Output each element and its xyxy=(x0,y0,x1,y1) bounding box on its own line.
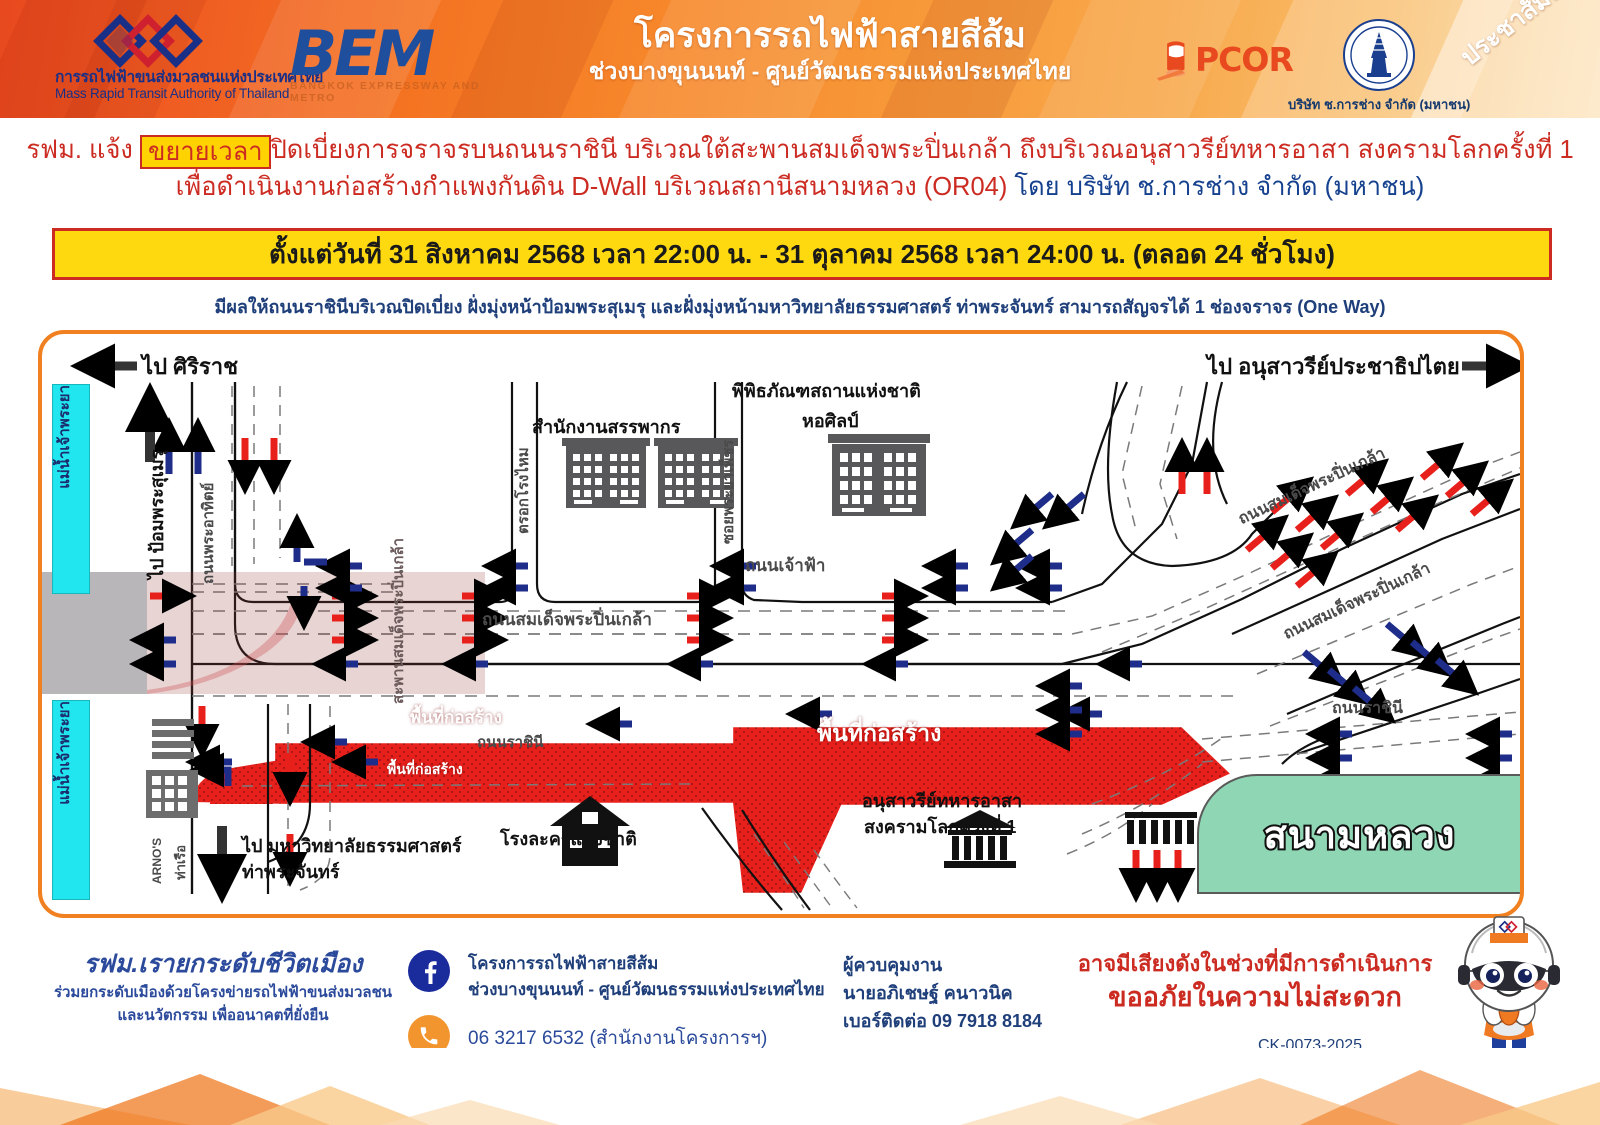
slogan-sub-2: และนวัตกรรม เพื่ออนาคตที่ยั่งยืน xyxy=(48,1004,398,1027)
revenue-office-building-icon-2 xyxy=(654,438,738,508)
mrta-english-name: Mass Rapid Transit Authority of Thailand xyxy=(55,86,245,102)
mrta-diamond-icon xyxy=(90,14,210,68)
apology-line-2: ขออภัยในความไม่สะดวก xyxy=(1055,979,1455,1015)
traffic-diversion-map: แม่น้ำเจ้าพระยา แม่น้ำเจ้าพระยา สนามหลวง… xyxy=(38,330,1524,918)
supervisor-phone: เบอร์ติดต่อ 09 7918 8184 xyxy=(843,1007,1042,1035)
slogan-sub-1: ร่วมยกระดับเมืองด้วยโครงข่ายรถไฟฟ้าขนส่ง… xyxy=(48,981,398,1004)
announcement-line2-a: เพื่อดำเนินงานก่อสร้างกำแพงกันดิน D-Wall… xyxy=(176,173,1008,201)
national-museum-building-icon xyxy=(828,434,930,516)
apology-line-1: อาจมีเสียงดังในช่วงที่มีการดำเนินการ xyxy=(1055,949,1455,979)
mrta-slogan: รฟม.เรายกระดับชีวิตเมือง ร่วมยกระดับเมือ… xyxy=(48,947,398,1027)
pier-building-icon xyxy=(146,770,198,818)
supervisor-name: นายอภิเชษฐ์ คนาวนิค xyxy=(843,979,1042,1007)
chao-phraya-river-bar-top: แม่น้ำเจ้าพระยา xyxy=(52,384,90,594)
supervisor-label: ผู้ควบคุมงาน xyxy=(843,951,1042,979)
supervisor-info: ผู้ควบคุมงาน นายอภิเชษฐ์ คนาวนิค เบอร์ติ… xyxy=(843,951,1042,1035)
date-banner: ตั้งแต่วันที่ 31 สิงหาคม 2568 เวลา 22:00… xyxy=(52,228,1552,280)
pier-icon xyxy=(152,719,194,759)
slogan-main: รฟม.เรายกระดับชีวิตเมือง xyxy=(48,947,398,981)
bem-wordmark: BEM xyxy=(290,22,500,86)
project-title-line1: โครงการรถไฟฟ้าสายสีส้ม xyxy=(520,16,1140,56)
revenue-office-building-icon xyxy=(562,438,650,508)
extension-highlight: ขยายเวลา xyxy=(140,135,271,169)
river-label-top: แม่น้ำเจ้าพระยา xyxy=(53,385,89,495)
announcement-prefix: รฟม. แจ้ง xyxy=(26,136,133,164)
facebook-page-name: โครงการรถไฟฟ้าสายสีส้ม ช่วงบางขุนนนท์ - … xyxy=(468,951,825,1003)
mrta-thai-name: การรถไฟฟ้าขนส่งมวลชนแห่งประเทศไทย xyxy=(55,70,245,86)
poster-header: การรถไฟฟ้าขนส่งมวลชนแห่งประเทศไทย Mass R… xyxy=(0,0,1600,118)
project-title-line2: ช่วงบางขุนนนท์ - ศูนย์วัฒนธรรมแห่งประเทศ… xyxy=(520,56,1140,86)
crosswalk-icon xyxy=(1125,812,1197,844)
sanam-luang-label: สนามหลวง xyxy=(1264,804,1456,865)
ck-company-logo xyxy=(1342,18,1416,92)
chao-phraya-river-bar-bottom: แม่น้ำเจ้าพระยา xyxy=(52,700,90,900)
bem-subtitle: BANGKOK EXPRESSWAY AND METRO xyxy=(290,80,500,104)
announcement-line1-rest: ปิดเบี่ยงการจราจรบนถนนราชินี บริเวณใต้สะ… xyxy=(271,136,1574,164)
sanam-luang-park: สนามหลวง xyxy=(1197,774,1522,894)
facebook-icon[interactable] xyxy=(408,950,450,992)
pcor-wordmark: PCOR xyxy=(1195,40,1293,79)
bem-logo: BEM BANGKOK EXPRESSWAY AND METRO xyxy=(290,22,500,102)
oneway-subnote: มีผลให้ถนนราชินีบริเวณปิดเบี่ยง ฝั่งมุ่ง… xyxy=(0,292,1600,321)
national-theatre-icon xyxy=(550,796,630,866)
mrta-logo: การรถไฟฟ้าขนส่งมวลชนแห่งประเทศไทย Mass R… xyxy=(55,14,245,106)
announcement-line2-contractor: โดย บริษัท ช.การช่าง จำกัด (มหาชน) xyxy=(1014,173,1424,201)
river-label-bottom: แม่น้ำเจ้าพระยา xyxy=(53,701,89,811)
date-banner-text: ตั้งแต่วันที่ 31 สิงหาคม 2568 เวลา 22:00… xyxy=(269,234,1335,275)
war-volunteers-monument-icon xyxy=(944,810,1016,868)
announcement-block: รฟม. แจ้ง ขยายเวลาปิดเบี่ยงการจราจรบนถนน… xyxy=(0,132,1600,206)
project-title: โครงการรถไฟฟ้าสายสีส้ม ช่วงบางขุนนนท์ - … xyxy=(520,16,1140,86)
apology-notice: อาจมีเสียงดังในช่วงที่มีการดำเนินการ ขออ… xyxy=(1055,949,1455,1015)
announcement-line-1: รฟม. แจ้ง ขยายเวลาปิดเบี่ยงการจราจรบนถนน… xyxy=(0,132,1600,169)
facebook-line-2: ช่วงบางขุนนนท์ - ศูนย์วัฒนธรรมแห่งประเทศ… xyxy=(468,977,825,1003)
announcement-line-2: เพื่อดำเนินงานก่อสร้างกำแพงกันดิน D-Wall… xyxy=(0,169,1600,206)
announcement-poster: การรถไฟฟ้าขนส่งมวลชนแห่งประเทศไทย Mass R… xyxy=(0,0,1600,1125)
bottom-decoration xyxy=(0,1048,1600,1125)
pcor-logo: PCOR xyxy=(1155,36,1305,90)
facebook-line-1: โครงการรถไฟฟ้าสายสีส้ม xyxy=(468,951,825,977)
